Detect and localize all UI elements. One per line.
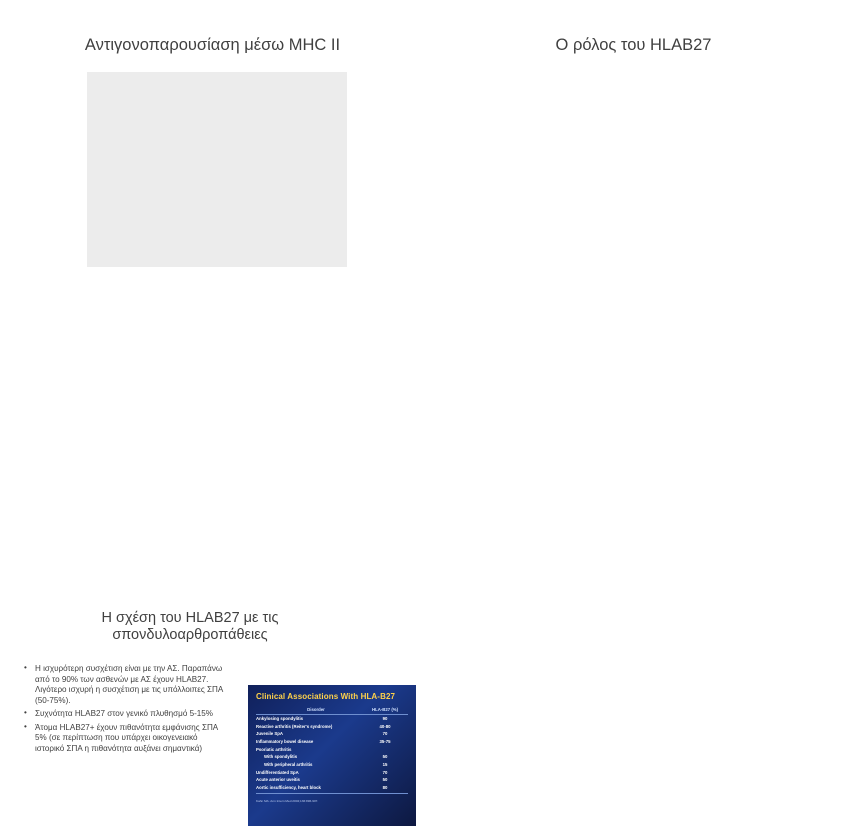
cell-pct: 50 [362,753,408,761]
cell-disorder: Aortic insufficiency, heart block [256,784,362,793]
slide3-title-line2: σπονδυλοαρθροπάθειες [25,627,355,644]
slide-hlab27-spondyloarthropathies: Η σχέση του HLAB27 με τις σπονδυλοαρθροπ… [0,297,421,595]
slide3-title-line1: Η σχέση του HLAB27 με τις [25,610,355,627]
table-row: With peripheral arthritis 15 [256,761,408,769]
cell-disorder: Psoriatic arthritis [256,745,362,753]
slide2-title: Ο ρόλος του HLAB27 [461,36,806,55]
table-row: Ankylosing spondylitis 90 [256,714,408,722]
cell-pct: 70 [362,730,408,738]
table-row: Aortic insufficiency, heart block 80 [256,784,408,793]
cell-pct: 15 [362,761,408,769]
bullet-text: Άτομα HLAB27+ έχουν πιθανότητα εμφάνισης… [35,723,218,753]
figure-clinical-associations-table: Clinical Associations With HLA-B27 Disor… [248,685,416,826]
list-item: Άτομα HLAB27+ έχουν πιθανότητα εμφάνισης… [22,723,227,755]
column-header-disorder: Disorder [256,707,362,714]
cell-disorder: Acute anterior uveitis [256,776,362,784]
bullet-text: Συχνότητα HLAB27 στον γενικό πλυθησμό 5-… [35,709,213,718]
bullet-text: Η ισχυρότερη συσχέτιση είναι με την ΑΣ. … [35,664,223,705]
cell-pct: 50 [362,776,408,784]
cell-pct: 35-75 [362,738,408,746]
table-row: With spondylitis 50 [256,753,408,761]
table-row: Undifferentiated SpA 70 [256,768,408,776]
clinical-associations-table: Disorder HLA-B27 (%) Ankylosing spondyli… [256,707,408,794]
column-header-hlab27-pct: HLA-B27 (%) [362,707,408,714]
cell-disorder: With spondylitis [256,753,362,761]
cell-pct: 40-80 [362,722,408,730]
cell-pct [362,745,408,753]
list-item: Η ισχυρότερη συσχέτιση είναι με την ΑΣ. … [22,664,227,706]
cell-pct: 90 [362,714,408,722]
list-item: Συχνότητα HLAB27 στον γενικό πλυθησμό 5-… [22,709,227,720]
slide-role-of-hlab27: Ο ρόλος του HLAB27 Πολλές θεωρίες Το HLA… [421,0,842,297]
table-row: Inflammatory bowel disease 35-75 [256,738,408,746]
slide3-title: Η σχέση του HLAB27 με τις σπονδυλοαρθροπ… [25,610,355,644]
cell-disorder: Juvenile SpA [256,730,362,738]
slide-antigen-presentation-mhc2: Αντιγονοπαρουσίαση μέσω MHC II [0,0,421,297]
cell-disorder: Undifferentiated SpA [256,768,362,776]
clinical-table-title: Clinical Associations With HLA-B27 [256,692,408,701]
slide1-image-placeholder [87,72,347,267]
table-head: Disorder HLA-B27 (%) [256,707,408,714]
slide-hlab27-misfolding: Οι αλυσίδες του HLAB27 έχουν την τάση να… [421,297,842,595]
cell-disorder: With peripheral arthritis [256,761,362,769]
cell-disorder: Ankylosing spondylitis [256,714,362,722]
clinical-table-source: Kahn MA. Ann Intern Med 2002;136:896-907… [256,799,408,803]
table-body: Ankylosing spondylitis 90 Reactive arthr… [256,714,408,793]
table-row: Juvenile SpA 70 [256,730,408,738]
cell-pct: 80 [362,784,408,793]
table-header-row: Disorder HLA-B27 (%) [256,707,408,714]
slide3-bullet-list: Η ισχυρότερη συσχέτιση είναι με την ΑΣ. … [22,664,227,757]
slide1-title: Αντιγονοπαρουσίαση μέσω MHC II [40,36,385,55]
table-row: Acute anterior uveitis 50 [256,776,408,784]
table-row: Reactive arthritis (Reiter's syndrome) 4… [256,722,408,730]
table-row: Psoriatic arthritis [256,745,408,753]
cell-pct: 70 [362,768,408,776]
cell-disorder: Reactive arthritis (Reiter's syndrome) [256,722,362,730]
cell-disorder: Inflammatory bowel disease [256,738,362,746]
